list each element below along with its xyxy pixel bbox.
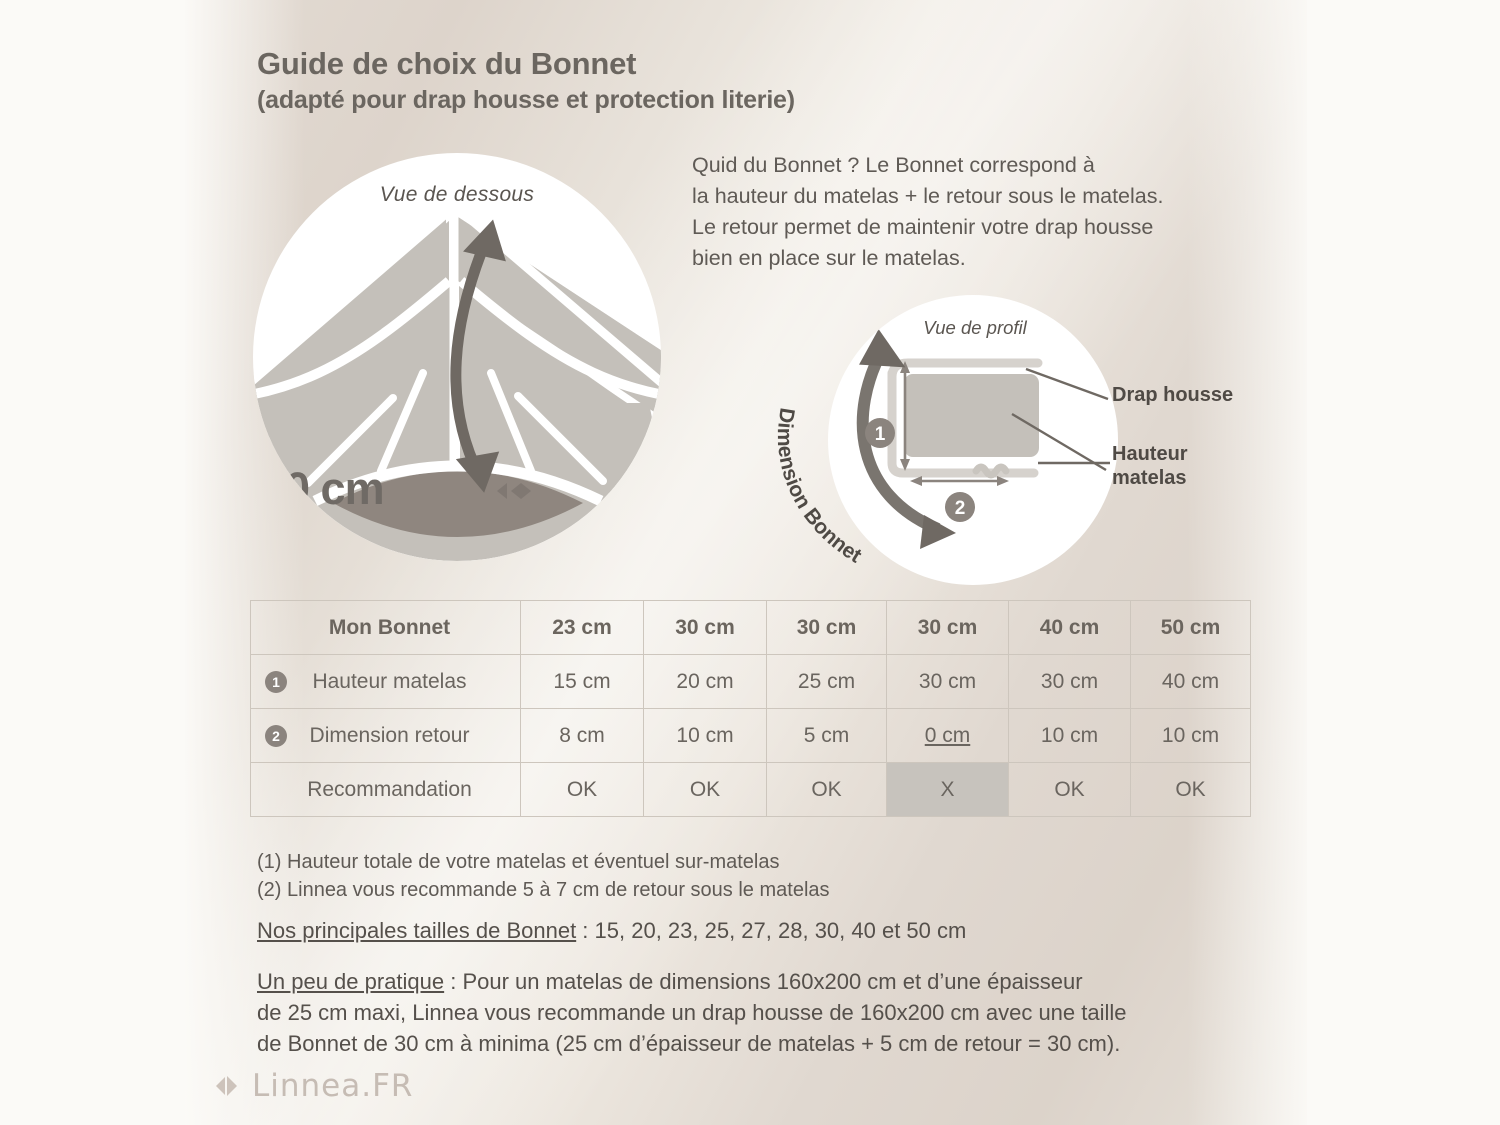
table-cell: OK bbox=[521, 763, 644, 817]
practice-line-3: de Bonnet de 30 cm à minima (25 cm d’épa… bbox=[257, 1028, 1237, 1059]
callout-drap-housse: Drap housse bbox=[1112, 383, 1233, 407]
callout-hauteur-matelas: Hauteur matelas bbox=[1112, 442, 1188, 491]
table-row: 2 Dimension retour 8 cm 10 cm 5 cm 0 cm … bbox=[251, 709, 1251, 763]
table-cell-underlined: 0 cm bbox=[925, 724, 971, 747]
badge-1: 1 bbox=[265, 671, 287, 693]
bonnet-table: Mon Bonnet 23 cm 30 cm 30 cm 30 cm 40 cm… bbox=[250, 600, 1251, 817]
table-cell: 0 cm bbox=[887, 709, 1009, 763]
logo-text: Linnea.FR bbox=[252, 1068, 413, 1104]
table-rowlabel-recommandation: Recommandation bbox=[251, 763, 521, 817]
logo[interactable]: Linnea.FR bbox=[212, 1068, 413, 1104]
table-cell: 15 cm bbox=[521, 655, 644, 709]
table-cell: 30 cm bbox=[1009, 655, 1131, 709]
practice-line-1: Un peu de pratique : Pour un matelas de … bbox=[257, 966, 1237, 997]
badge-2: 2 bbox=[265, 725, 287, 747]
callout-hauteur-line-2: matelas bbox=[1112, 466, 1188, 490]
svg-text:Dimension Bonnet: Dimension Bonnet bbox=[773, 406, 866, 567]
title-main: Guide de choix du Bonnet bbox=[257, 46, 1057, 83]
callout-leader-line-2 bbox=[1010, 408, 1115, 498]
rowlabel-text: Hauteur matelas bbox=[312, 670, 466, 693]
table-rowlabel-dimension-retour: 2 Dimension retour bbox=[251, 709, 521, 763]
infographic-root: Guide de choix du Bonnet (adapté pour dr… bbox=[0, 0, 1500, 1125]
table-cell: 30 cm bbox=[767, 601, 887, 655]
table-cell: 40 cm bbox=[1131, 655, 1251, 709]
table-row: Recommandation OK OK OK X OK OK bbox=[251, 763, 1251, 817]
table-cell: 50 cm bbox=[1131, 601, 1251, 655]
table-cell: 10 cm bbox=[1131, 709, 1251, 763]
table-cell-not-recommended: X bbox=[887, 763, 1009, 817]
footnotes: (1) Hauteur totale de votre matelas et é… bbox=[257, 848, 1217, 904]
table-cell: 20 cm bbox=[644, 655, 767, 709]
dimension-bonnet-arc-label: Dimension Bonnet bbox=[760, 395, 990, 585]
table-cell: 8 cm bbox=[521, 709, 644, 763]
profile-view-label: Vue de profil bbox=[880, 317, 1070, 339]
table-cell: OK bbox=[1131, 763, 1251, 817]
practice-l1: : Pour un matelas de dimensions 160x200 … bbox=[444, 969, 1082, 994]
page-title: Guide de choix du Bonnet (adapté pour dr… bbox=[257, 46, 1057, 115]
diagram-bottom-view: Vue de dessous 30 cm bbox=[253, 153, 661, 561]
table-cell: 10 cm bbox=[644, 709, 767, 763]
linnea-diamond-icon bbox=[212, 1071, 242, 1101]
table-cell: 30 cm bbox=[887, 655, 1009, 709]
sizes-line: Nos principales tailles de Bonnet : 15, … bbox=[257, 918, 1237, 944]
table-cell: OK bbox=[644, 763, 767, 817]
table-row: 1 Hauteur matelas 15 cm 20 cm 25 cm 30 c… bbox=[251, 655, 1251, 709]
callout-hauteur-line-1: Hauteur bbox=[1112, 442, 1188, 466]
table-cell: 5 cm bbox=[767, 709, 887, 763]
table-cell: 23 cm bbox=[521, 601, 644, 655]
intro-line-2: la hauteur du matelas + le retour sous l… bbox=[692, 181, 1262, 212]
footnote-2: (2) Linnea vous recommande 5 à 7 cm de r… bbox=[257, 876, 1217, 904]
bottom-view-label: Vue de dessous bbox=[253, 183, 661, 207]
table-cell: 40 cm bbox=[1009, 601, 1131, 655]
intro-line-4: bien en place sur le matelas. bbox=[692, 243, 1262, 274]
intro-paragraph: Quid du Bonnet ? Le Bonnet correspond à … bbox=[692, 150, 1262, 274]
sizes-value: : 15, 20, 23, 25, 27, 28, 30, 40 et 50 c… bbox=[576, 918, 966, 943]
table-cell: 30 cm bbox=[644, 601, 767, 655]
table-rowlabel-mon-bonnet: Mon Bonnet bbox=[251, 601, 521, 655]
table-cell: 10 cm bbox=[1009, 709, 1131, 763]
title-subtitle: (adapté pour drap housse et protection l… bbox=[257, 85, 1057, 115]
footnote-1: (1) Hauteur totale de votre matelas et é… bbox=[257, 848, 1217, 876]
arc-label-text: Dimension Bonnet bbox=[773, 406, 866, 567]
sizes-label: Nos principales tailles de Bonnet bbox=[257, 918, 576, 943]
practice-block: Un peu de pratique : Pour un matelas de … bbox=[257, 966, 1237, 1060]
practice-line-2: de 25 cm maxi, Linnea vous recommande un… bbox=[257, 997, 1237, 1028]
intro-line-1: Quid du Bonnet ? Le Bonnet correspond à bbox=[692, 150, 1262, 181]
practice-label: Un peu de pratique bbox=[257, 969, 444, 994]
table-cell: 25 cm bbox=[767, 655, 887, 709]
table-cell: OK bbox=[1009, 763, 1131, 817]
table-rowlabel-hauteur-matelas: 1 Hauteur matelas bbox=[251, 655, 521, 709]
table-cell: 30 cm bbox=[887, 601, 1009, 655]
bottom-view-measure: 30 cm bbox=[261, 463, 384, 515]
rowlabel-text: Dimension retour bbox=[310, 724, 470, 747]
intro-line-3: Le retour permet de maintenir votre drap… bbox=[692, 212, 1262, 243]
table-row: Mon Bonnet 23 cm 30 cm 30 cm 30 cm 40 cm… bbox=[251, 601, 1251, 655]
table-cell: OK bbox=[767, 763, 887, 817]
